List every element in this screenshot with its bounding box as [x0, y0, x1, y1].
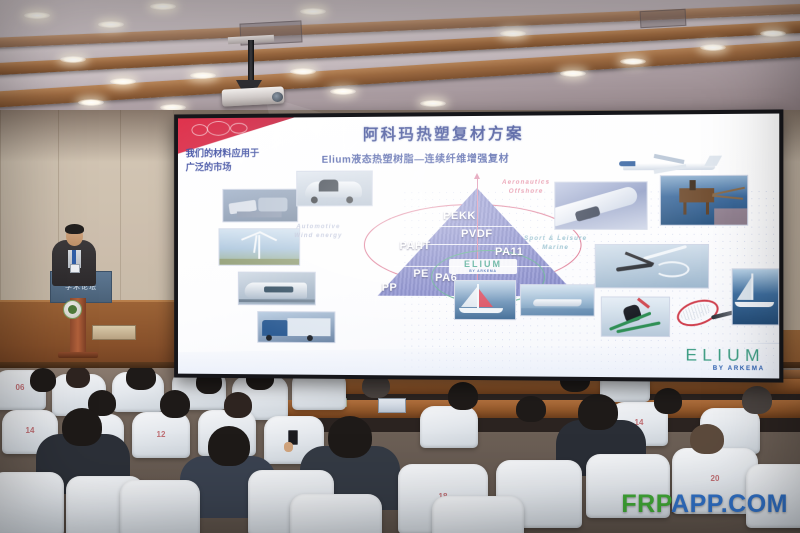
- audience-head: [742, 386, 772, 414]
- photo-sailboat: [454, 280, 516, 320]
- audience-chair: [120, 480, 200, 533]
- audience-head: [62, 408, 102, 446]
- audience-chair: [432, 496, 524, 533]
- photo-racing-trimaran: [732, 268, 780, 325]
- audience-chair: [420, 406, 478, 448]
- audience-head: [690, 424, 724, 454]
- ceiling-downlight: [620, 58, 646, 65]
- ceiling-downlight: [300, 8, 326, 15]
- market-sport-line1: Sport & Leisure: [524, 234, 587, 243]
- photo-truck: [257, 311, 335, 343]
- pyramid-label-pvdf: PVDF: [461, 228, 493, 240]
- audience-head: [516, 396, 546, 422]
- pyramid-label-paht: PAHT: [399, 240, 430, 252]
- audience-chair: 12: [132, 412, 190, 458]
- elium-badge-byline: BY ARKEMA: [469, 270, 497, 273]
- ceiling-downlight: [24, 12, 50, 19]
- ceiling-downlight: [330, 88, 356, 95]
- photo-aircraft-wing: [554, 181, 647, 230]
- audience-head: [208, 426, 250, 466]
- audience-head: [328, 416, 372, 458]
- projector-lens-icon: [272, 92, 283, 102]
- photo-sports-car: [296, 170, 373, 206]
- market-label-automotive: Automotive Wind energy: [294, 222, 342, 240]
- watermark-part-2: APP.COM: [671, 490, 788, 518]
- ceiling-vent: [640, 9, 687, 28]
- projection-screen-frame: 阿科玛热塑复材方案 Elium液态热塑树脂—连续纤维增强复材 我们的材料应用于 …: [174, 109, 783, 382]
- elium-center-badge: ELIUM BY ARKEMA: [449, 259, 517, 274]
- stage-plaque: [92, 325, 136, 340]
- audience-head: [578, 394, 618, 430]
- photo-boat-hull: [520, 284, 595, 316]
- ceiling-downlight: [110, 78, 136, 85]
- photo-wind-turbine: [218, 228, 300, 266]
- audience-laptop: [378, 398, 406, 413]
- photo-tennis-racket: [672, 295, 736, 330]
- ceiling: [0, 0, 800, 118]
- market-automotive-line2: Wind energy: [294, 231, 342, 240]
- slide-left-heading: 我们的材料应用于 广泛的市场: [186, 147, 293, 175]
- speaker-hair: [65, 224, 84, 234]
- ceiling-downlight: [500, 30, 526, 37]
- pyramid-label-pekk: PEKK: [443, 210, 476, 222]
- audience-head: [448, 382, 478, 410]
- elium-footer-logo: ELIUM BY ARKEMA: [685, 346, 764, 372]
- left-heading-line-2: 广泛的市场: [186, 161, 293, 175]
- audience-head: [126, 368, 156, 390]
- site-watermark: FRPAPP.COM: [621, 490, 788, 519]
- ceiling-downlight: [760, 30, 786, 37]
- left-heading-line-1: 我们的材料应用于: [186, 147, 293, 161]
- screenshot-root: 阿科玛热塑复材方案 Elium液态热塑树脂—连续纤维增强复材 我们的材料应用于 …: [0, 0, 800, 533]
- elium-logo-text: ELIUM: [685, 346, 764, 364]
- photo-high-speed-train: [238, 272, 316, 306]
- market-automotive-line1: Automotive: [294, 222, 342, 231]
- podium-base: [58, 352, 98, 358]
- market-sport-line2: Marine: [524, 243, 587, 252]
- audience-chair: [0, 472, 64, 533]
- projection-screen: 阿科玛热塑复材方案 Elium液态热塑树脂—连续纤维增强复材 我们的材料应用于 …: [178, 114, 779, 379]
- market-label-aeronautics: Aeronautics Offshore: [502, 178, 550, 197]
- audience-hand: [284, 442, 293, 452]
- elium-logo-byline: BY ARKEMA: [685, 366, 764, 373]
- audience-head: [160, 390, 190, 418]
- podium-emblem-icon: [63, 300, 82, 319]
- elium-badge-name: ELIUM: [464, 260, 502, 269]
- audience-head: [224, 392, 252, 418]
- photo-windsurfer: [595, 244, 709, 289]
- ceiling-downlight: [700, 44, 726, 51]
- photo-offshore-platform: [660, 175, 748, 226]
- audience-head: [66, 368, 90, 388]
- slide-subtitle: Elium液态热塑树脂—连续纤维增强复材: [322, 150, 510, 166]
- ceiling-downlight: [190, 72, 216, 79]
- seat-number: 12: [132, 430, 190, 439]
- ceiling-downlight: [420, 100, 446, 107]
- audience-head: [30, 368, 56, 392]
- watermark-part-1: FRP: [621, 490, 671, 518]
- ceiling-downlight: [290, 68, 316, 75]
- seat-number: 14: [2, 426, 58, 435]
- ceiling-downlight: [60, 56, 86, 63]
- ceiling-downlight: [150, 3, 176, 10]
- ceiling-downlight: [98, 21, 124, 28]
- ceiling-downlight: [78, 99, 104, 106]
- market-aeronautics-line2: Offshore: [502, 187, 550, 196]
- pyramid-label-pp: PP: [382, 282, 398, 294]
- audience-chair: [290, 494, 382, 533]
- market-aeronautics-line1: Aeronautics: [502, 178, 550, 188]
- photo-automotive-parts: [222, 189, 298, 223]
- speaker-badge: [70, 264, 80, 273]
- audience-head: [654, 388, 682, 414]
- ceiling-downlight: [560, 70, 586, 77]
- slide-title: 阿科玛热塑复材方案: [363, 122, 524, 145]
- photo-skier: [601, 296, 670, 337]
- market-label-sport: Sport & Leisure Marine: [524, 234, 587, 253]
- pyramid-label-pa11: PA11: [495, 246, 524, 258]
- pyramid-label-pe: PE: [413, 268, 429, 280]
- photo-airplane: [613, 151, 723, 178]
